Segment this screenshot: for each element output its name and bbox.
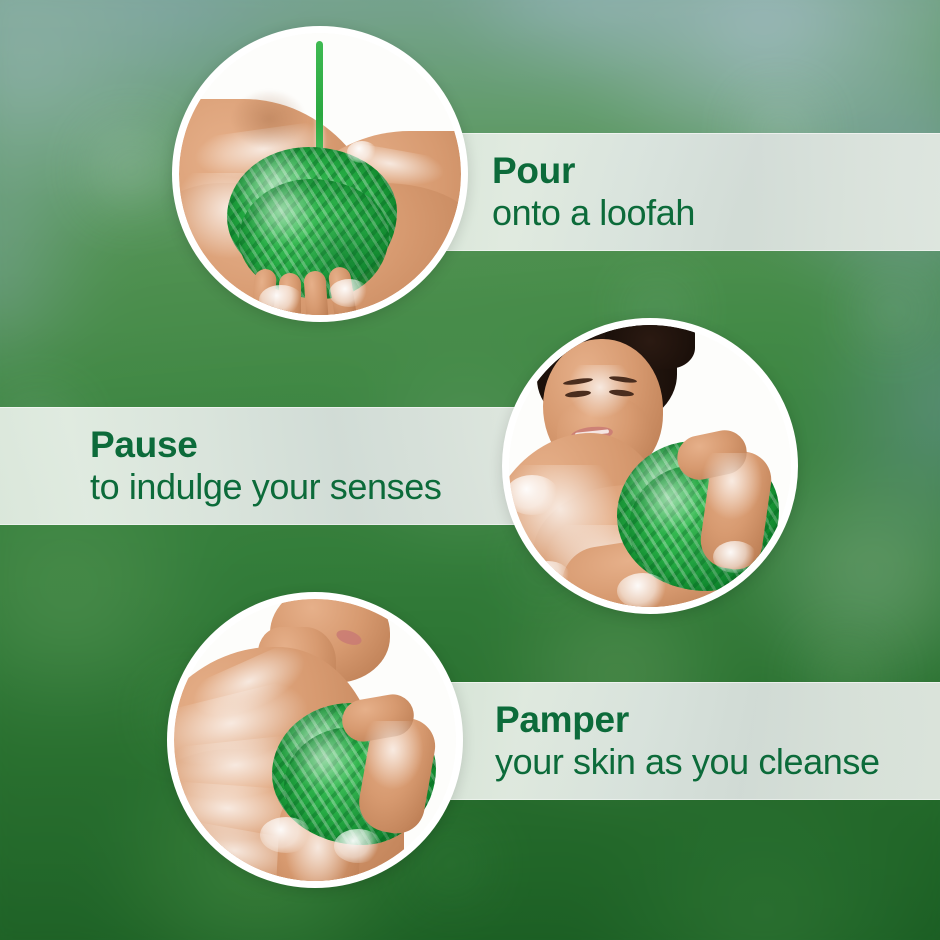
step-photo-pause-image xyxy=(509,325,791,607)
step-subline-pamper: your skin as you cleanse xyxy=(432,743,940,781)
promo-graphic: Pour onto a loofah Pause to indulge your… xyxy=(0,0,940,940)
step-photo-pause xyxy=(502,318,798,614)
step-band-pamper: Pamper your skin as you cleanse xyxy=(432,682,940,800)
step-photo-pamper-image xyxy=(174,599,456,881)
step-subline-pour: onto a loofah xyxy=(430,194,940,232)
step-photo-pour xyxy=(172,26,468,322)
step-photo-pour-image xyxy=(179,33,461,315)
step-headline-pour: Pour xyxy=(430,152,940,190)
step-band-pause: Pause to indulge your senses xyxy=(0,407,530,525)
step-subline-pause: to indulge your senses xyxy=(0,468,530,506)
step-headline-pause: Pause xyxy=(0,426,530,464)
step-headline-pamper: Pamper xyxy=(432,701,940,739)
step-band-pour: Pour onto a loofah xyxy=(430,133,940,251)
step-photo-pamper xyxy=(167,592,463,888)
